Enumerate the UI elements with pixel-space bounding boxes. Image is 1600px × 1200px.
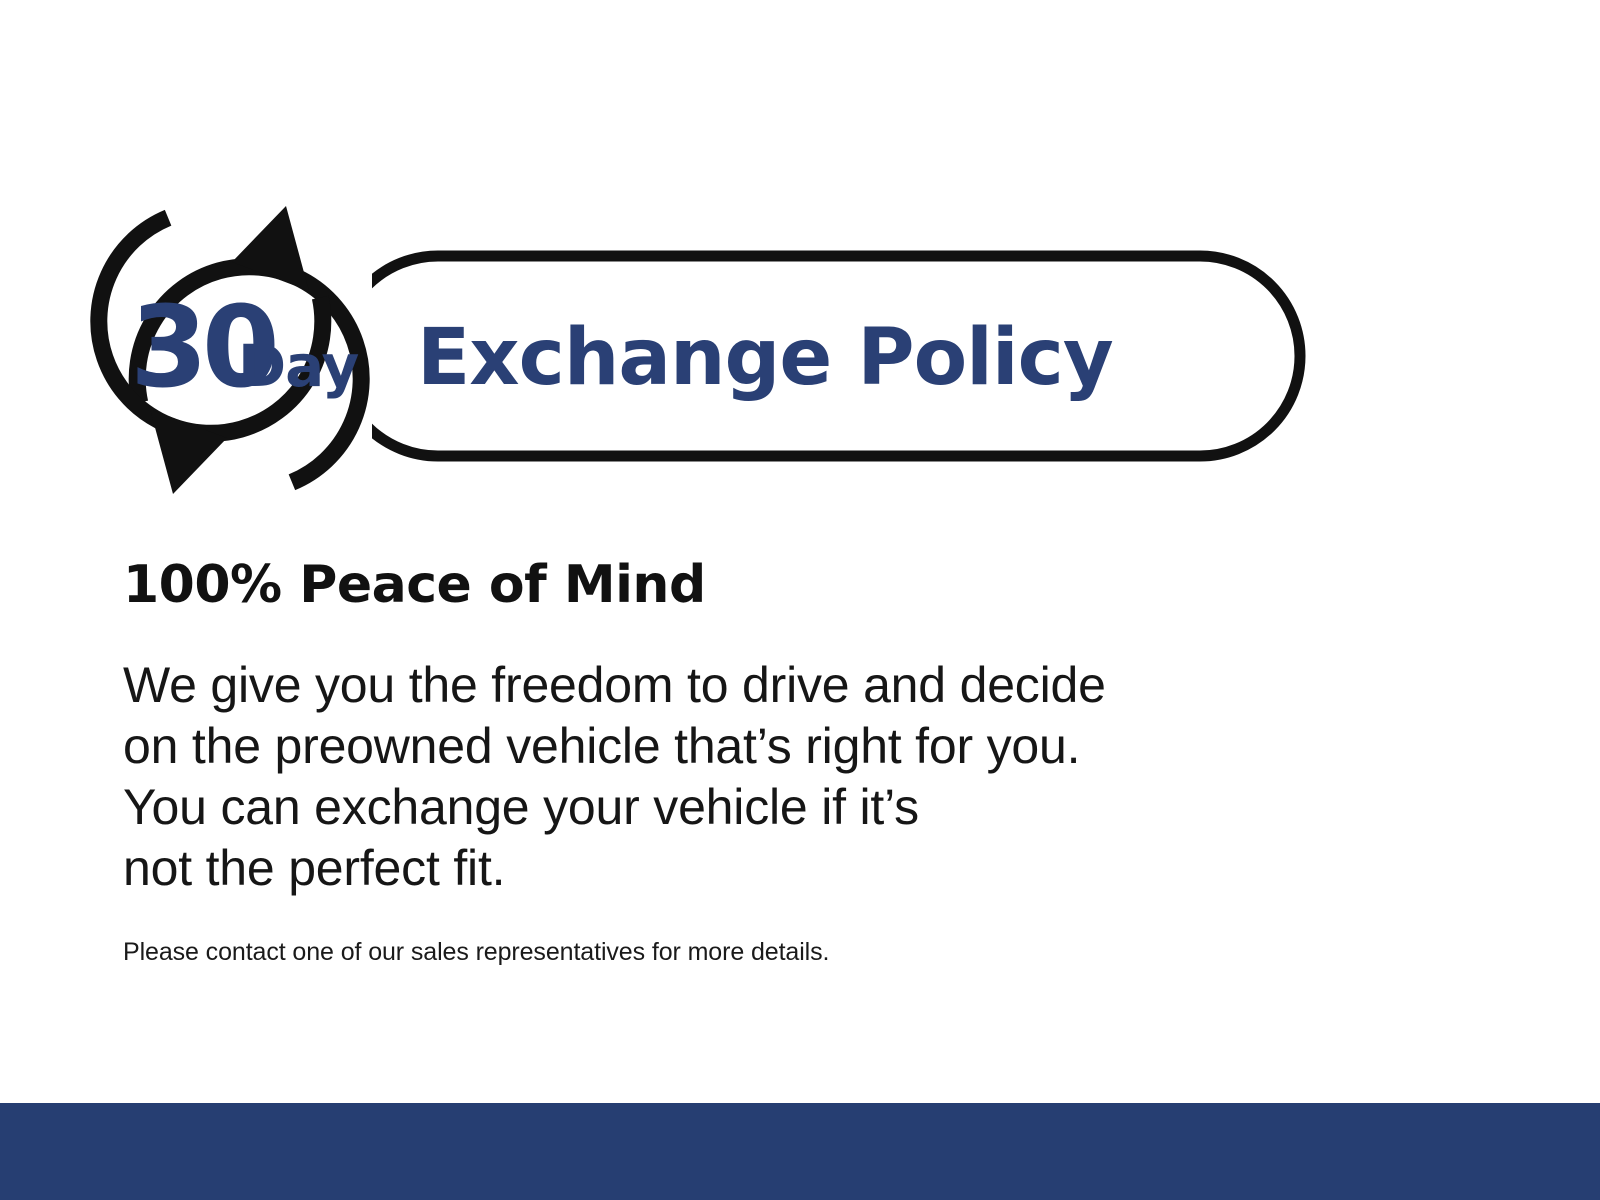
headline: 100% Peace of Mind bbox=[123, 558, 1373, 613]
footnote: Please contact one of our sales represen… bbox=[123, 899, 1373, 967]
policy-banner: 30 Day Exchange Policy bbox=[90, 190, 1320, 490]
policy-banner-graphic: 30 Day Exchange Policy bbox=[90, 190, 1320, 490]
banner-title: Exchange Policy bbox=[417, 313, 1113, 403]
slide-canvas: 30 Day Exchange Policy 100% Peace of Min… bbox=[0, 0, 1600, 1200]
paragraph-line: not the perfect fit. bbox=[123, 838, 1373, 899]
badge-unit-label: Day bbox=[238, 332, 358, 400]
copy-block: 100% Peace of Mind We give you the freed… bbox=[123, 558, 1373, 967]
paragraph-line: You can exchange your vehicle if it’s bbox=[123, 777, 1373, 838]
body-paragraph: We give you the freedom to drive and dec… bbox=[123, 613, 1373, 899]
paragraph-line: We give you the freedom to drive and dec… bbox=[123, 655, 1373, 716]
paragraph-line: on the preowned vehicle that’s right for… bbox=[123, 716, 1373, 777]
footer-band bbox=[0, 1103, 1600, 1200]
